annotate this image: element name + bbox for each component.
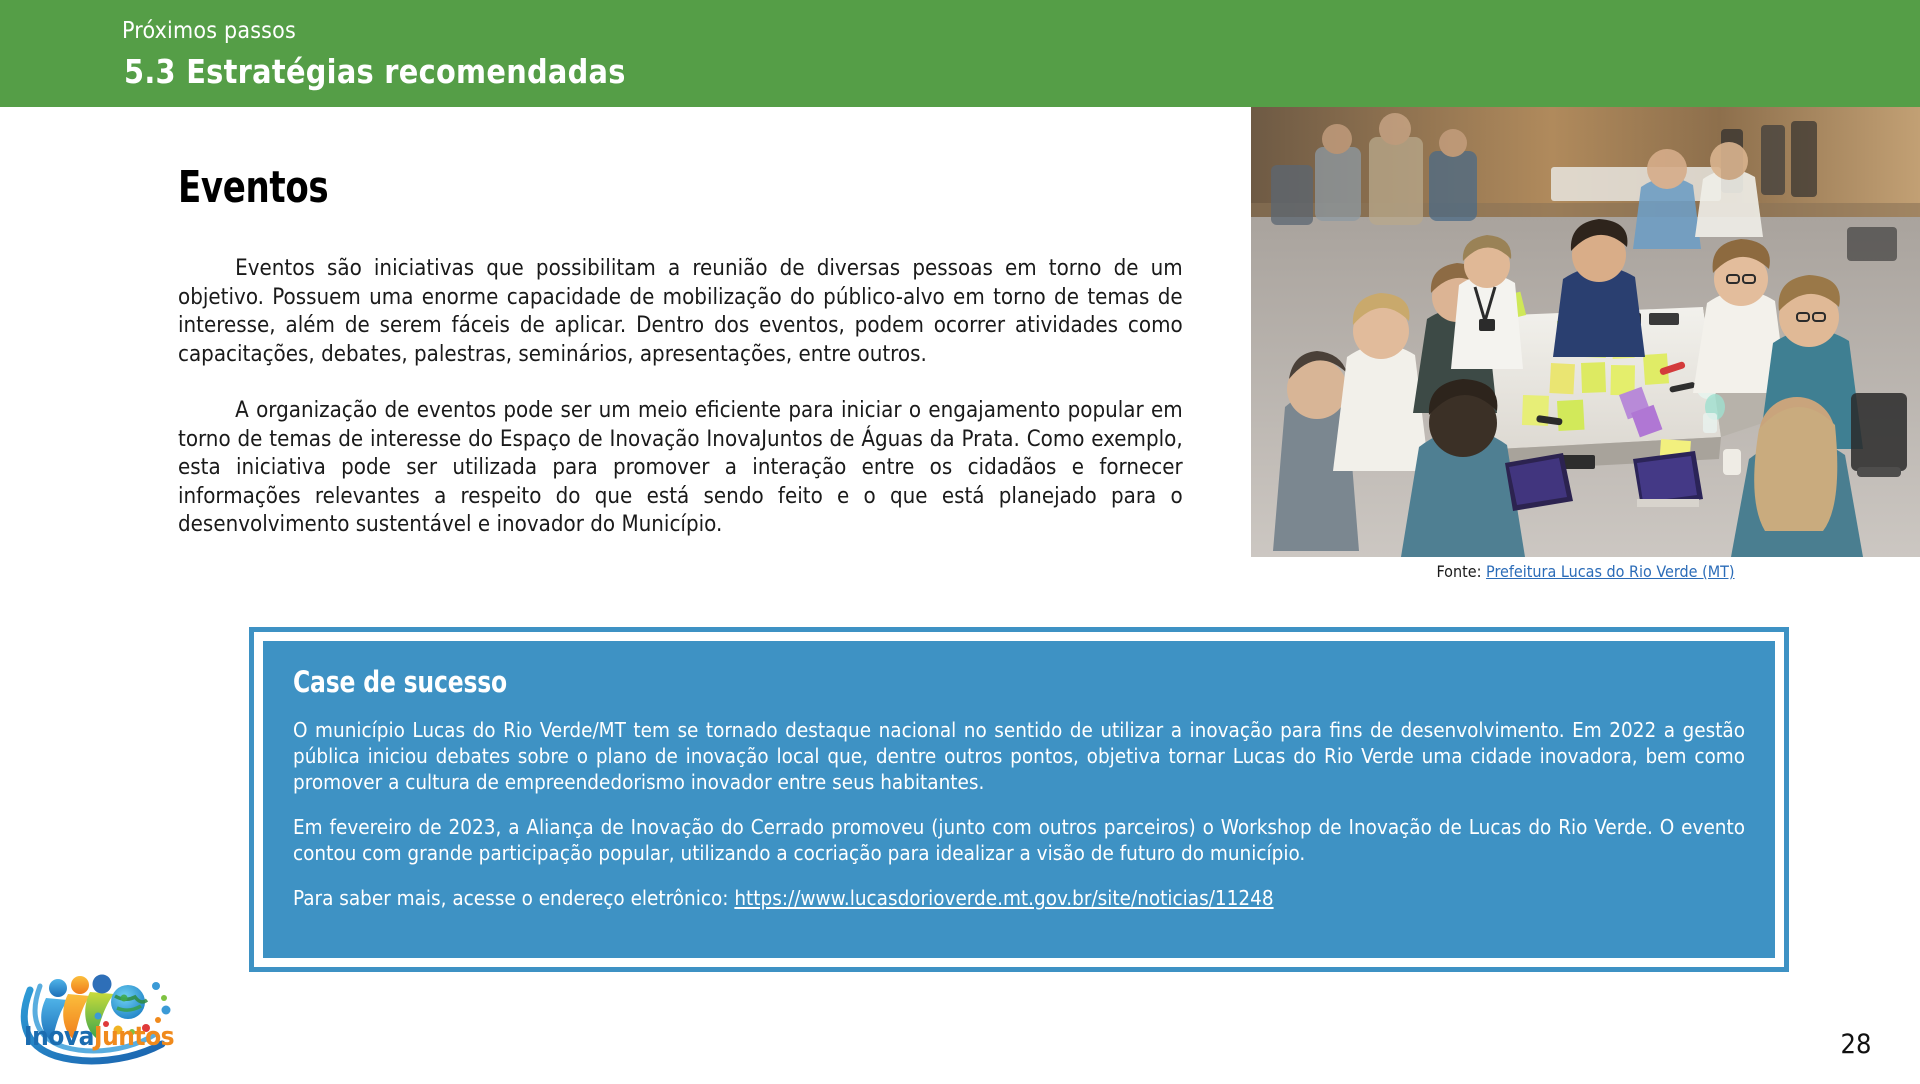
case-link-line: Para saber mais, acesse o endereço eletr… <box>293 885 1745 911</box>
workshop-photo-illustration <box>1251 107 1920 557</box>
logo-word-juntos: Juntos <box>94 1022 174 1052</box>
case-paragraph-2: Em fevereiro de 2023, a Aliança de Inova… <box>293 814 1745 866</box>
body-paragraph-2: A organização de eventos pode ser um mei… <box>178 396 1183 539</box>
logo-word-inova: Inova <box>24 1022 94 1052</box>
inovajuntos-wordmark: InovaJuntos <box>16 1022 182 1052</box>
page-title: 5.3 Estratégias recomendadas <box>124 52 626 91</box>
case-success-box: Case de sucesso O município Lucas do Rio… <box>249 627 1789 972</box>
photo-caption-prefix: Fonte: <box>1436 562 1481 581</box>
workshop-photo <box>1251 107 1920 557</box>
case-success-inner: Case de sucesso O município Lucas do Rio… <box>263 641 1775 958</box>
case-paragraph-1: O município Lucas do Rio Verde/MT tem se… <box>293 717 1745 795</box>
body-paragraph-1: Eventos são iniciativas que possibilitam… <box>178 254 1183 368</box>
photo-source-link[interactable]: Prefeitura Lucas do Rio Verde (MT) <box>1486 562 1734 581</box>
page-number: 28 <box>1826 1029 1886 1060</box>
header-eyebrow: Próximos passos <box>122 18 296 44</box>
body-text-column: Eventos são iniciativas que possibilitam… <box>178 254 1198 539</box>
section-title: Eventos <box>178 162 328 213</box>
case-external-link[interactable]: https://www.lucasdorioverde.mt.gov.br/si… <box>734 886 1273 910</box>
photo-caption: Fonte: Prefeitura Lucas do Rio Verde (MT… <box>1251 562 1920 581</box>
case-success-title: Case de sucesso <box>293 665 1600 699</box>
slide-header-band: Próximos passos 5.3 Estratégias recomend… <box>0 0 1920 107</box>
case-link-intro: Para saber mais, acesse o endereço eletr… <box>293 886 729 910</box>
